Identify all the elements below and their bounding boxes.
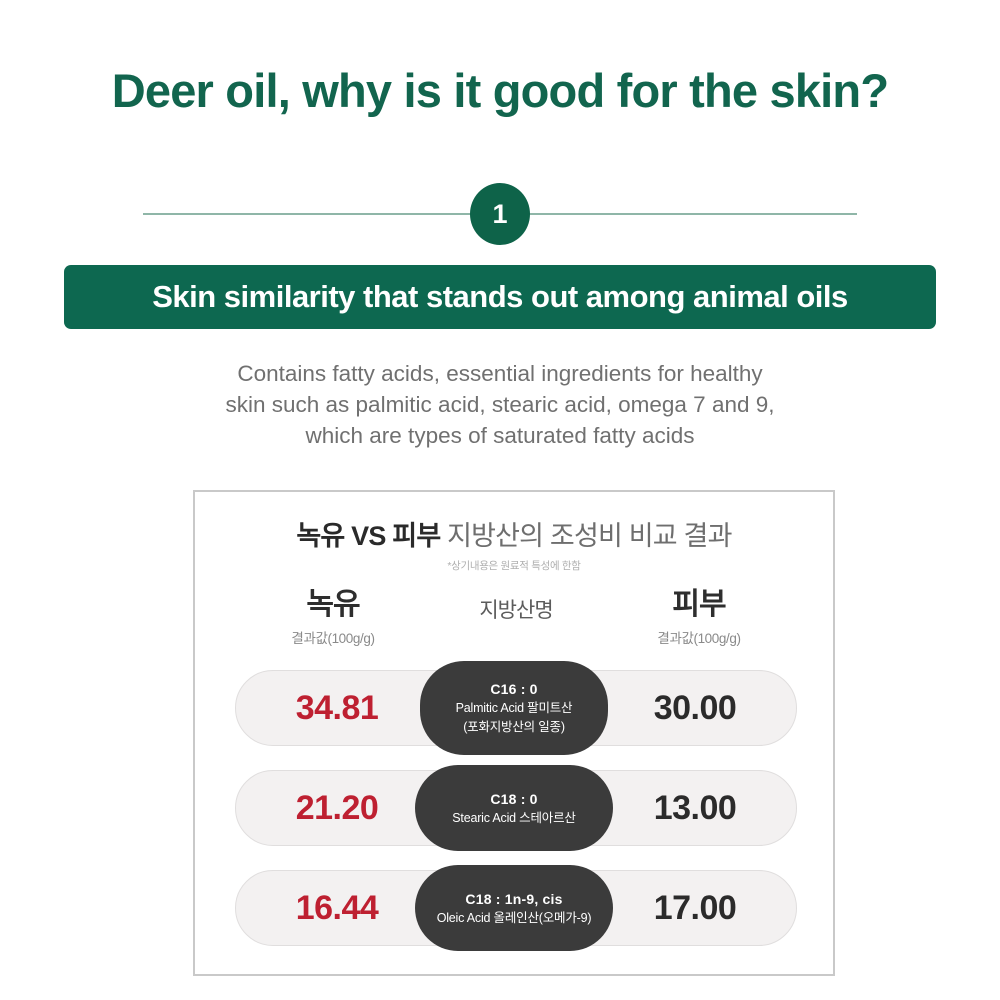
column-header-right: 피부 결과값(100g/g) bbox=[589, 587, 809, 647]
card-title-rest: 지방산의 조성비 비교 결과 bbox=[447, 521, 732, 551]
column-header-right-title: 피부 bbox=[589, 587, 809, 623]
row-right-value: 13.00 bbox=[615, 770, 775, 846]
row-tag-code: C18 : 1n-9, cis bbox=[465, 889, 562, 909]
comparison-rows: 34.81 C16 : 0 Palmitic Acid 팔미트산 (포화지방산의… bbox=[195, 670, 833, 970]
card-title-keyword: 녹유 VS 피부 bbox=[296, 521, 440, 551]
row-tag-name: Stearic Acid 스테아르산 bbox=[452, 809, 575, 828]
row-right-value: 30.00 bbox=[615, 670, 775, 746]
column-header-left-sub: 결과값(100g/g) bbox=[223, 627, 443, 647]
row-left-value: 34.81 bbox=[257, 670, 417, 746]
row-tag-code: C18 : 0 bbox=[490, 789, 537, 809]
row-tag-name: Oleic Acid 올레인산(오메가-9) bbox=[437, 909, 592, 928]
step-divider: 1 bbox=[143, 183, 857, 245]
row-right-value: 17.00 bbox=[615, 870, 775, 946]
row-left-value: 21.20 bbox=[257, 770, 417, 846]
section-banner-label: Skin similarity that stands out among an… bbox=[152, 279, 848, 315]
row-left-value: 16.44 bbox=[257, 870, 417, 946]
row-tag-note: (포화지방산의 일종) bbox=[463, 718, 565, 737]
section-banner: Skin similarity that stands out among an… bbox=[64, 265, 936, 329]
comparison-card-subnote: *상기내용은 원료적 특성에 한함 bbox=[195, 558, 833, 573]
row-fatty-acid-tag: C18 : 0 Stearic Acid 스테아르산 bbox=[415, 765, 613, 851]
section-description: Contains fatty acids, essential ingredie… bbox=[0, 358, 1000, 451]
table-row: 21.20 C18 : 0 Stearic Acid 스테아르산 13.00 bbox=[195, 770, 833, 846]
step-badge-1: 1 bbox=[470, 183, 530, 245]
row-fatty-acid-tag: C16 : 0 Palmitic Acid 팔미트산 (포화지방산의 일종) bbox=[420, 661, 608, 755]
page-title: Deer oil, why is it good for the skin? bbox=[0, 63, 1000, 118]
row-tag-name: Palmitic Acid 팔미트산 bbox=[456, 699, 573, 718]
description-line-2: skin such as palmitic acid, stearic acid… bbox=[0, 389, 1000, 420]
description-line-1: Contains fatty acids, essential ingredie… bbox=[0, 358, 1000, 389]
row-tag-code: C16 : 0 bbox=[490, 679, 537, 699]
table-row: 34.81 C16 : 0 Palmitic Acid 팔미트산 (포화지방산의… bbox=[195, 670, 833, 746]
column-header-right-sub: 결과값(100g/g) bbox=[589, 627, 809, 647]
column-headers: 녹유 결과값(100g/g) 지방산명 피부 결과값(100g/g) bbox=[195, 587, 833, 659]
row-fatty-acid-tag: C18 : 1n-9, cis Oleic Acid 올레인산(오메가-9) bbox=[415, 865, 613, 951]
table-row: 16.44 C18 : 1n-9, cis Oleic Acid 올레인산(오메… bbox=[195, 870, 833, 946]
description-line-3: which are types of saturated fatty acids bbox=[0, 420, 1000, 451]
comparison-card-title: 녹유 VS 피부 지방산의 조성비 비교 결과 bbox=[195, 514, 833, 553]
comparison-card: 녹유 VS 피부 지방산의 조성비 비교 결과 *상기내용은 원료적 특성에 한… bbox=[193, 490, 835, 976]
